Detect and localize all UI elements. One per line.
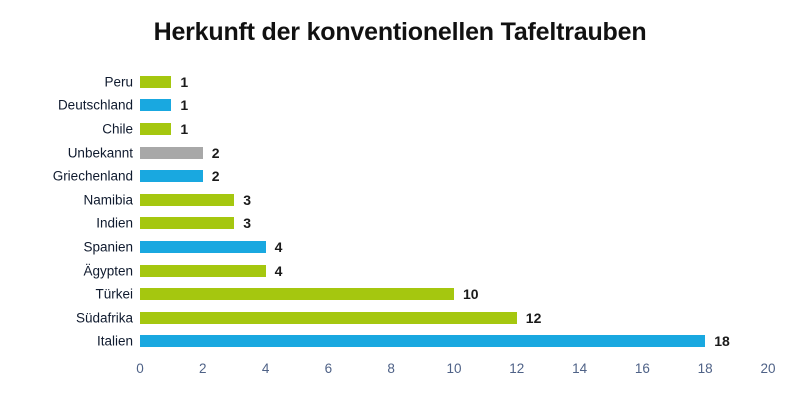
bar[interactable] [140, 147, 203, 159]
category-label: Namibia [0, 193, 133, 207]
bar-wrapper [140, 99, 171, 111]
bar[interactable] [140, 194, 234, 206]
x-axis-tick-label: 16 [635, 362, 650, 376]
x-axis-tick-label: 18 [698, 362, 713, 376]
bar-row: Ägypten4 [0, 259, 800, 283]
bar-wrapper [140, 288, 454, 300]
bar-row: Spanien4 [0, 235, 800, 259]
bar-wrapper [140, 241, 266, 253]
bar-wrapper [140, 217, 234, 229]
bar-value-label: 12 [526, 311, 542, 325]
bar[interactable] [140, 312, 517, 324]
bar-value-label: 1 [180, 122, 188, 136]
category-label: Indien [0, 217, 133, 231]
bar[interactable] [140, 241, 266, 253]
bar-wrapper [140, 170, 203, 182]
bar[interactable] [140, 123, 171, 135]
x-axis-tick-label: 6 [325, 362, 333, 376]
bar[interactable] [140, 170, 203, 182]
bar-value-label: 2 [212, 169, 220, 183]
category-label: Griechenland [0, 169, 133, 183]
category-label: Südafrika [0, 311, 133, 325]
x-axis-tick-label: 20 [760, 362, 775, 376]
category-label: Deutschland [0, 99, 133, 113]
bar-row: Chile1 [0, 117, 800, 141]
category-label: Unbekannt [0, 146, 133, 160]
bar-value-label: 3 [243, 216, 251, 230]
bar-value-label: 4 [275, 264, 283, 278]
category-label: Ägypten [0, 264, 133, 278]
bar-value-label: 18 [714, 334, 730, 348]
x-axis-tick-label: 0 [136, 362, 144, 376]
bar-value-label: 1 [180, 98, 188, 112]
bar-wrapper [140, 147, 203, 159]
bar[interactable] [140, 335, 705, 347]
bar-value-label: 1 [180, 75, 188, 89]
category-label: Türkei [0, 287, 133, 301]
plot-area: Peru1Deutschland1Chile1Unbekannt2Grieche… [0, 70, 800, 354]
bar-value-label: 3 [243, 193, 251, 207]
bar-wrapper [140, 335, 705, 347]
category-label: Spanien [0, 240, 133, 254]
bar[interactable] [140, 265, 266, 277]
bar-row: Deutschland1 [0, 94, 800, 118]
x-axis-tick-label: 8 [387, 362, 395, 376]
bar[interactable] [140, 76, 171, 88]
bar-value-label: 10 [463, 287, 479, 301]
bar-wrapper [140, 76, 171, 88]
bar-row: Griechenland2 [0, 164, 800, 188]
x-axis-tick-label: 4 [262, 362, 270, 376]
bar-row: Türkei10 [0, 282, 800, 306]
bar-wrapper [140, 312, 517, 324]
bar-chart: Herkunft der konventionellen Tafeltraube… [0, 0, 800, 403]
bar-value-label: 2 [212, 146, 220, 160]
bar-wrapper [140, 123, 171, 135]
x-axis-tick-label: 12 [509, 362, 524, 376]
bar[interactable] [140, 99, 171, 111]
bar-value-label: 4 [275, 240, 283, 254]
category-label: Chile [0, 122, 133, 136]
bar[interactable] [140, 288, 454, 300]
x-axis-tick-label: 14 [572, 362, 587, 376]
x-axis: 02468101214161820 [0, 356, 800, 386]
bar-row: Indien3 [0, 212, 800, 236]
bar-row: Italien18 [0, 330, 800, 354]
bar-row: Namibia3 [0, 188, 800, 212]
category-label: Italien [0, 335, 133, 349]
bar-row: Südafrika12 [0, 306, 800, 330]
bar-wrapper [140, 265, 266, 277]
bar[interactable] [140, 217, 234, 229]
x-axis-tick-label: 2 [199, 362, 207, 376]
x-axis-tick-label: 10 [446, 362, 461, 376]
chart-title: Herkunft der konventionellen Tafeltraube… [0, 18, 800, 47]
bar-wrapper [140, 194, 234, 206]
bar-row: Unbekannt2 [0, 141, 800, 165]
bar-row: Peru1 [0, 70, 800, 94]
category-label: Peru [0, 75, 133, 89]
